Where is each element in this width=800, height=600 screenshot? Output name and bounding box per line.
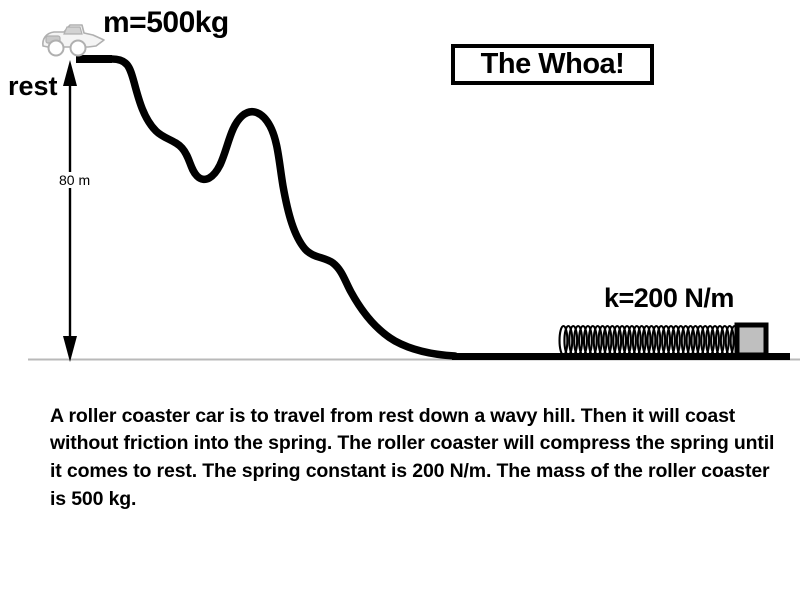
title-box: The Whoa! xyxy=(451,44,654,85)
height-arrow-head-up xyxy=(63,60,77,86)
problem-statement: A roller coaster car is to travel from r… xyxy=(50,403,776,515)
spring-coils xyxy=(560,326,739,355)
car-rear-wheel xyxy=(49,41,64,56)
race-car-icon xyxy=(43,25,104,56)
rest-label: rest xyxy=(8,73,58,100)
car-canopy xyxy=(64,27,82,34)
mass-label: m=500kg xyxy=(103,8,229,38)
physics-diagram: m=500kg rest 80 m k=200 N/m The Whoa! xyxy=(0,0,800,378)
diagram-canvas xyxy=(0,0,800,378)
coil-spring-icon xyxy=(560,326,739,355)
title-text: The Whoa! xyxy=(481,50,625,79)
gray-wall-block xyxy=(737,325,766,355)
slide-page: m=500kg rest 80 m k=200 N/m The Whoa! A … xyxy=(0,0,800,600)
height-dimension-arrow xyxy=(63,60,77,362)
height-label: 80 m xyxy=(57,172,92,188)
height-arrow-head-down xyxy=(63,336,77,362)
roller-coaster-track xyxy=(112,59,455,356)
spring-constant-label: k=200 N/m xyxy=(604,285,734,312)
car-front-wheel xyxy=(71,41,86,56)
